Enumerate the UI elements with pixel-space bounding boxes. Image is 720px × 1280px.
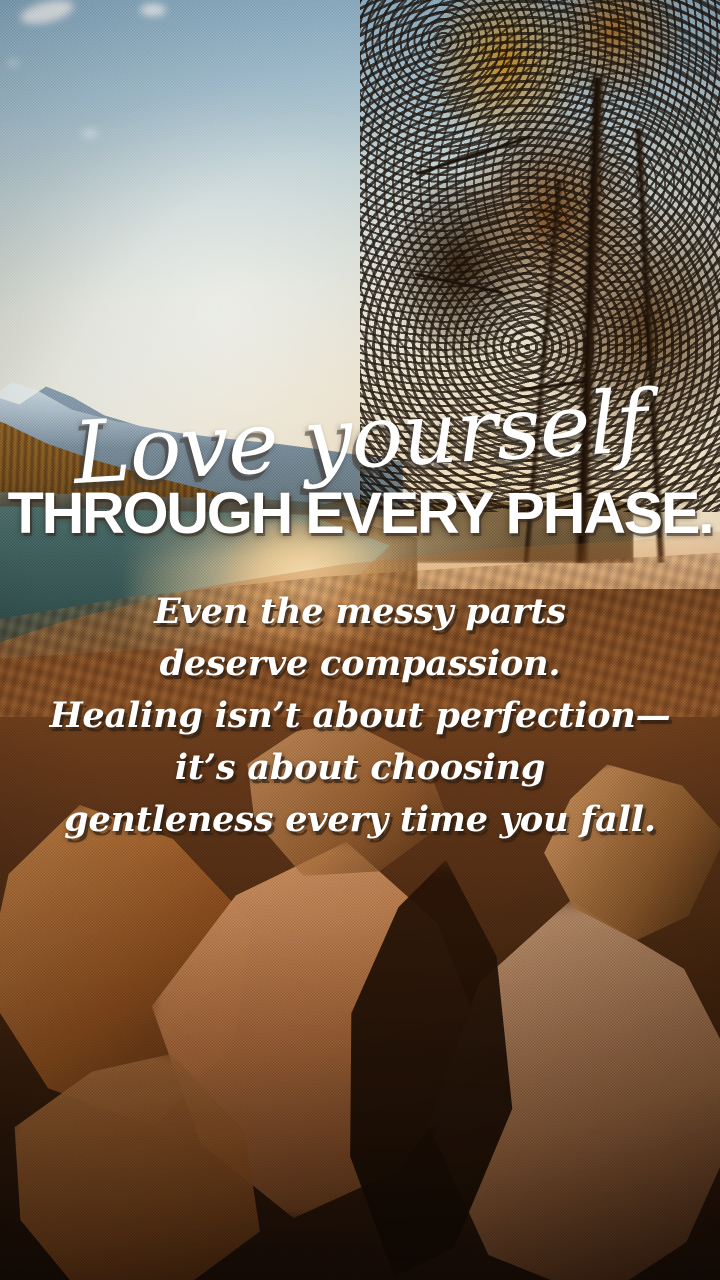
quote-poster: Love yourself THROUGH EVERY PHASE. Even … — [0, 0, 720, 1280]
quote-body-line: Even the messy parts — [0, 586, 720, 638]
quote-body-line: deserve compassion. — [0, 638, 720, 690]
quote-body: Even the messy parts deserve compassion.… — [0, 586, 720, 846]
quote-body-line: gentleness every time you fall. — [0, 794, 720, 846]
quote-body-line: Healing isn’t about perfection— — [0, 690, 720, 742]
main-headline: THROUGH EVERY PHASE. — [0, 485, 720, 543]
quote-body-line: it’s about choosing — [0, 742, 720, 794]
